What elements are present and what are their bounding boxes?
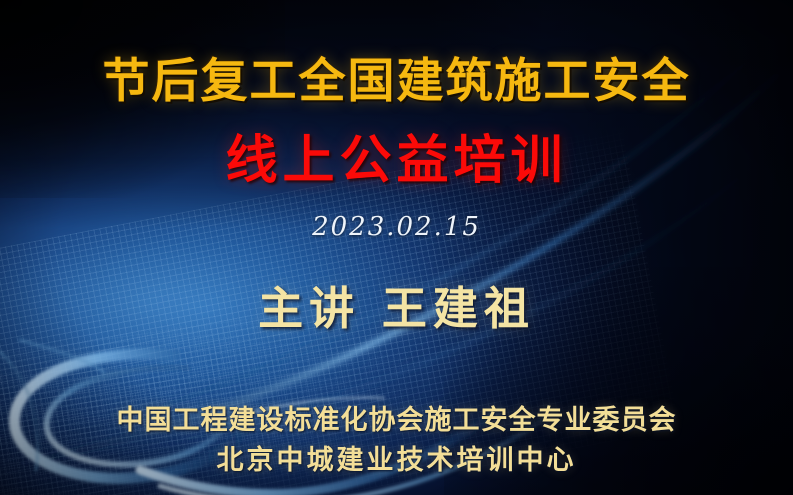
event-date: 2023.02.15 (0, 212, 793, 242)
presentation-slide: 节后复工全国建筑施工安全 线上公益培训 2023.02.15 主讲 王建祖 中国… (0, 0, 793, 495)
title-line-2: 线上公益培训 (0, 118, 793, 193)
organization-line-2: 北京中城建业技术培训中心 (0, 438, 793, 477)
slide-content: 节后复工全国建筑施工安全 线上公益培训 2023.02.15 主讲 王建祖 中国… (0, 0, 793, 495)
organization-line-1: 中国工程建设标准化协会施工安全专业委员会 (0, 398, 793, 437)
title-line-1: 节后复工全国建筑施工安全 (0, 42, 793, 111)
speaker-name: 主讲 王建祖 (0, 272, 793, 337)
